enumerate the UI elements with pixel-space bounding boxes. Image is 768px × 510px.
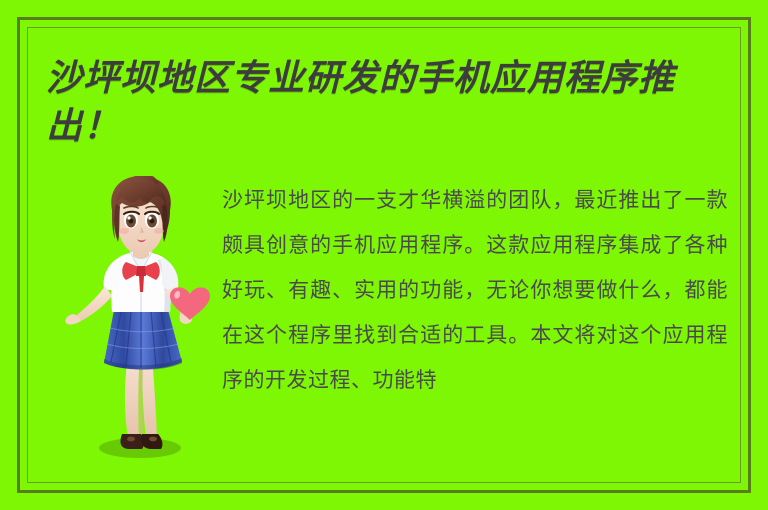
eye-highlight-right (148, 216, 151, 219)
hair-side-strand-left (114, 204, 120, 242)
shoe-left (120, 434, 143, 449)
poster-canvas: 沙坪坝地区专业研发的手机应用程序推出！ 沙坪坝地区的一支才华横溢的团队，最近推出… (0, 0, 768, 510)
shoe-buckle-left (127, 437, 135, 442)
blush-right (154, 228, 164, 234)
shoe-buckle-right (149, 437, 157, 442)
arm-left (77, 286, 112, 321)
hair-side-strand-right (162, 204, 168, 242)
article-body-text: 沙坪坝地区的一支才华横溢的团队，最近推出了一款颇具创意的手机应用程序。这款应用程… (222, 178, 728, 460)
blush-left (119, 228, 129, 234)
page-title: 沙坪坝地区专业研发的手机应用程序推出！ (46, 54, 736, 150)
bow-tie-knot (136, 266, 146, 276)
shoe-right (141, 434, 162, 449)
eye-highlight-left (127, 216, 130, 219)
anime-schoolgirl-illustration (58, 176, 222, 474)
sleeve-right (160, 258, 178, 290)
sleeve-left (104, 258, 122, 290)
